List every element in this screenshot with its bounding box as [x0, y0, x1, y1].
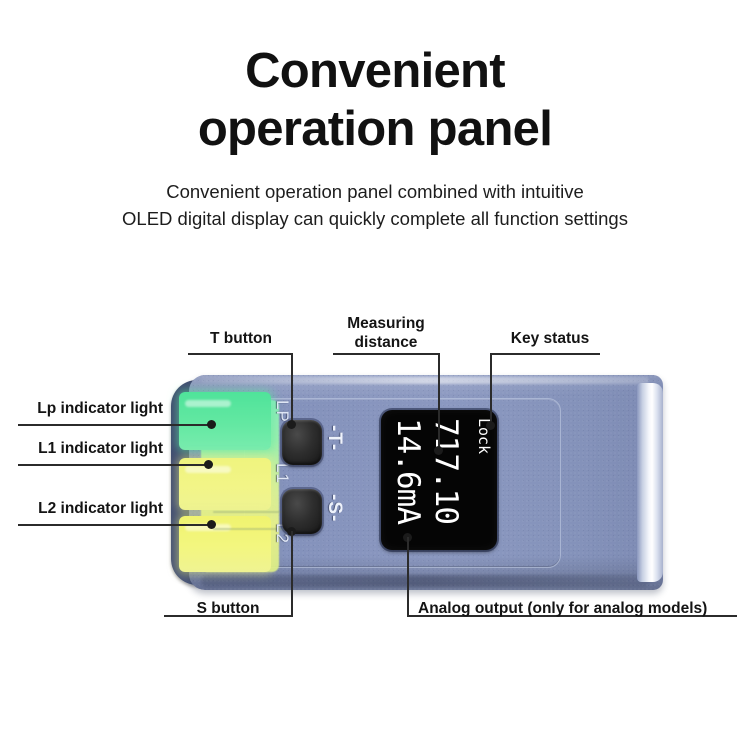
device-right-bezel — [637, 383, 663, 582]
callout-rule-measuring-distance — [333, 353, 440, 355]
callout-label-measuring-distance: Measuring distance — [331, 314, 441, 352]
t-button-label: -T- — [323, 425, 345, 451]
callout-leader-t-button — [291, 353, 293, 425]
callout-rule-lp-indicator — [18, 424, 213, 426]
l1-silkscreen-label: L1 — [272, 463, 292, 484]
s-button-label: -S- — [323, 494, 345, 522]
indicator-seam-upper — [213, 511, 287, 513]
callout-dot-l1-indicator — [204, 460, 213, 469]
callout-label-analog-output: Analog output (only for analog models) — [418, 600, 707, 618]
callout-label-l1-indicator: L1 indicator light — [18, 440, 163, 458]
callout-dot-l2-indicator — [207, 520, 216, 529]
callout-rule-t-button — [188, 353, 293, 355]
callout-label-measuring-distance-line-2: distance — [355, 334, 418, 351]
callout-dot-key-status — [486, 421, 495, 430]
callout-dot-lp-indicator — [207, 420, 216, 429]
callout-leader-key-status — [490, 353, 492, 426]
lp-indicator-highlight — [185, 400, 231, 407]
callout-rule-l1-indicator — [18, 464, 210, 466]
callout-label-s-button: S button — [178, 600, 278, 618]
callout-label-lp-indicator: Lp indicator light — [18, 400, 163, 418]
callout-label-t-button: T button — [196, 330, 286, 348]
device-top-highlight — [201, 377, 649, 384]
callout-label-l2-indicator: L2 indicator light — [18, 500, 163, 518]
oled-distance-value: 717.10 — [429, 418, 463, 524]
callout-leader-s-button — [291, 531, 293, 617]
callout-rule-l2-indicator — [18, 524, 213, 526]
callout-rule-key-status — [490, 353, 600, 355]
callout-dot-t-button — [287, 420, 296, 429]
oled-analog-output-value: 14.6mA — [391, 418, 425, 524]
callout-label-key-status: Key status — [495, 330, 605, 348]
callout-leader-measuring-distance — [438, 353, 440, 451]
callout-dot-measuring-distance — [434, 446, 443, 455]
product-diagram: LP L1 L2 -T- -S- Lock 717.10 14.6mA T bu… — [0, 0, 750, 750]
callout-label-measuring-distance-line-1: Measuring — [347, 315, 425, 332]
lp-indicator-light — [179, 392, 271, 450]
callout-leader-analog-output — [407, 537, 409, 615]
device-illustration: LP L1 L2 -T- -S- Lock 717.10 14.6mA — [181, 375, 681, 590]
